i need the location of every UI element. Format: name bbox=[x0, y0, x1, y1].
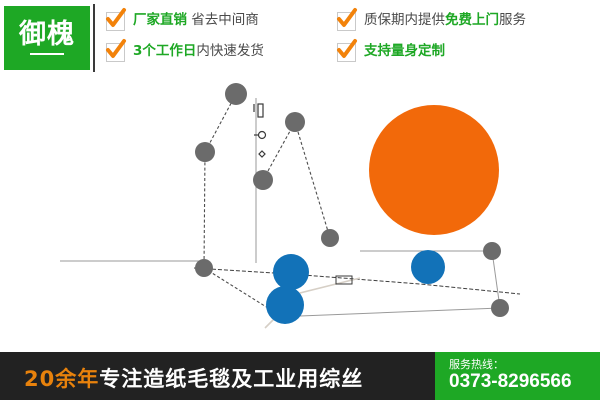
feature-plain-before: 质保期内提供 bbox=[364, 12, 445, 28]
felt-lower-run bbox=[194, 268, 520, 308]
logo-text: 御槐 bbox=[19, 21, 75, 48]
roller-mid-top bbox=[285, 112, 305, 132]
feature-plain-after: 服务 bbox=[499, 12, 526, 28]
nozzle-circle-icon bbox=[259, 132, 266, 139]
felt-seg-5 bbox=[295, 122, 330, 238]
press-roll-upper bbox=[273, 254, 309, 290]
feature-highlight: 免费上门 bbox=[445, 12, 499, 28]
felt-seg-2 bbox=[204, 152, 205, 268]
valve-diamond-icon bbox=[259, 151, 265, 157]
feature-item-warranty-service: 质保期内提供免费上门服务 bbox=[337, 7, 526, 35]
feature-label: 质保期内提供免费上门服务 bbox=[364, 14, 526, 28]
feature-plain-after: 内快速发货 bbox=[196, 43, 264, 59]
feature-item-factory-direct: 厂家直销 省去中间商 bbox=[106, 7, 259, 35]
roller-right-mid bbox=[321, 229, 339, 247]
company-logo[interactable]: 御槐 bbox=[4, 6, 90, 70]
shower-pipe-icon bbox=[258, 104, 263, 117]
header-divider bbox=[93, 4, 95, 72]
roller-left-upper bbox=[195, 142, 215, 162]
footer-tagline: 20余年专注造纸毛毯及工业用综丝 bbox=[24, 363, 363, 393]
roller-far-right-bottom bbox=[491, 299, 509, 317]
hotline-label: 服务热线： bbox=[449, 359, 600, 371]
frame-line-bottom-right bbox=[300, 308, 500, 316]
pressure-roll bbox=[411, 250, 445, 284]
feature-highlight: 厂家直销 bbox=[133, 12, 187, 28]
logo-underline bbox=[30, 53, 64, 55]
feature-label: 厂家直销 省去中间商 bbox=[133, 14, 259, 28]
press-roll-lower bbox=[266, 286, 304, 324]
footer-tagline-text: 专注造纸毛毯及工业用综丝 bbox=[99, 367, 363, 391]
felt-run-bottom bbox=[194, 268, 520, 294]
feature-label: 支持量身定制 bbox=[364, 45, 445, 59]
roller-far-right-top bbox=[483, 242, 501, 260]
feature-highlight: 3个工作日 bbox=[133, 43, 196, 59]
footer-years: 20余年 bbox=[24, 367, 99, 391]
page-root: 御槐 厂家直销 省去中间商 质保期 bbox=[0, 0, 600, 400]
diagram-canvas bbox=[0, 78, 600, 348]
feature-plain-after: 省去中间商 bbox=[187, 12, 259, 28]
roller-top-left bbox=[225, 83, 247, 105]
felt-seg-3 bbox=[204, 268, 268, 308]
roller-left-lower bbox=[195, 259, 213, 277]
yankee-dryer-roll bbox=[369, 105, 499, 235]
footer-bar: 20余年专注造纸毛毯及工业用综丝 服务热线： 0373-8296566 bbox=[0, 352, 600, 400]
feature-list: 厂家直销 省去中间商 质保期内提供免费上门服务 3个工作日内快速发货 bbox=[106, 5, 598, 73]
feature-label: 3个工作日内快速发货 bbox=[133, 45, 264, 59]
hotline-number[interactable]: 0373-8296566 bbox=[449, 371, 600, 393]
feature-highlight: 支持量身定制 bbox=[364, 43, 445, 59]
roller-mid-lower bbox=[253, 170, 273, 190]
check-icon bbox=[337, 43, 356, 62]
paper-machine-diagram bbox=[0, 78, 600, 348]
check-icon bbox=[106, 12, 125, 31]
header-bar: 御槐 厂家直销 省去中间商 质保期 bbox=[0, 0, 600, 78]
hotline-panel[interactable]: 服务热线： 0373-8296566 bbox=[435, 352, 600, 400]
feature-item-custom-made: 支持量身定制 bbox=[337, 38, 445, 66]
check-icon bbox=[337, 12, 356, 31]
feature-item-fast-shipping: 3个工作日内快速发货 bbox=[106, 38, 264, 66]
check-icon bbox=[106, 43, 125, 62]
